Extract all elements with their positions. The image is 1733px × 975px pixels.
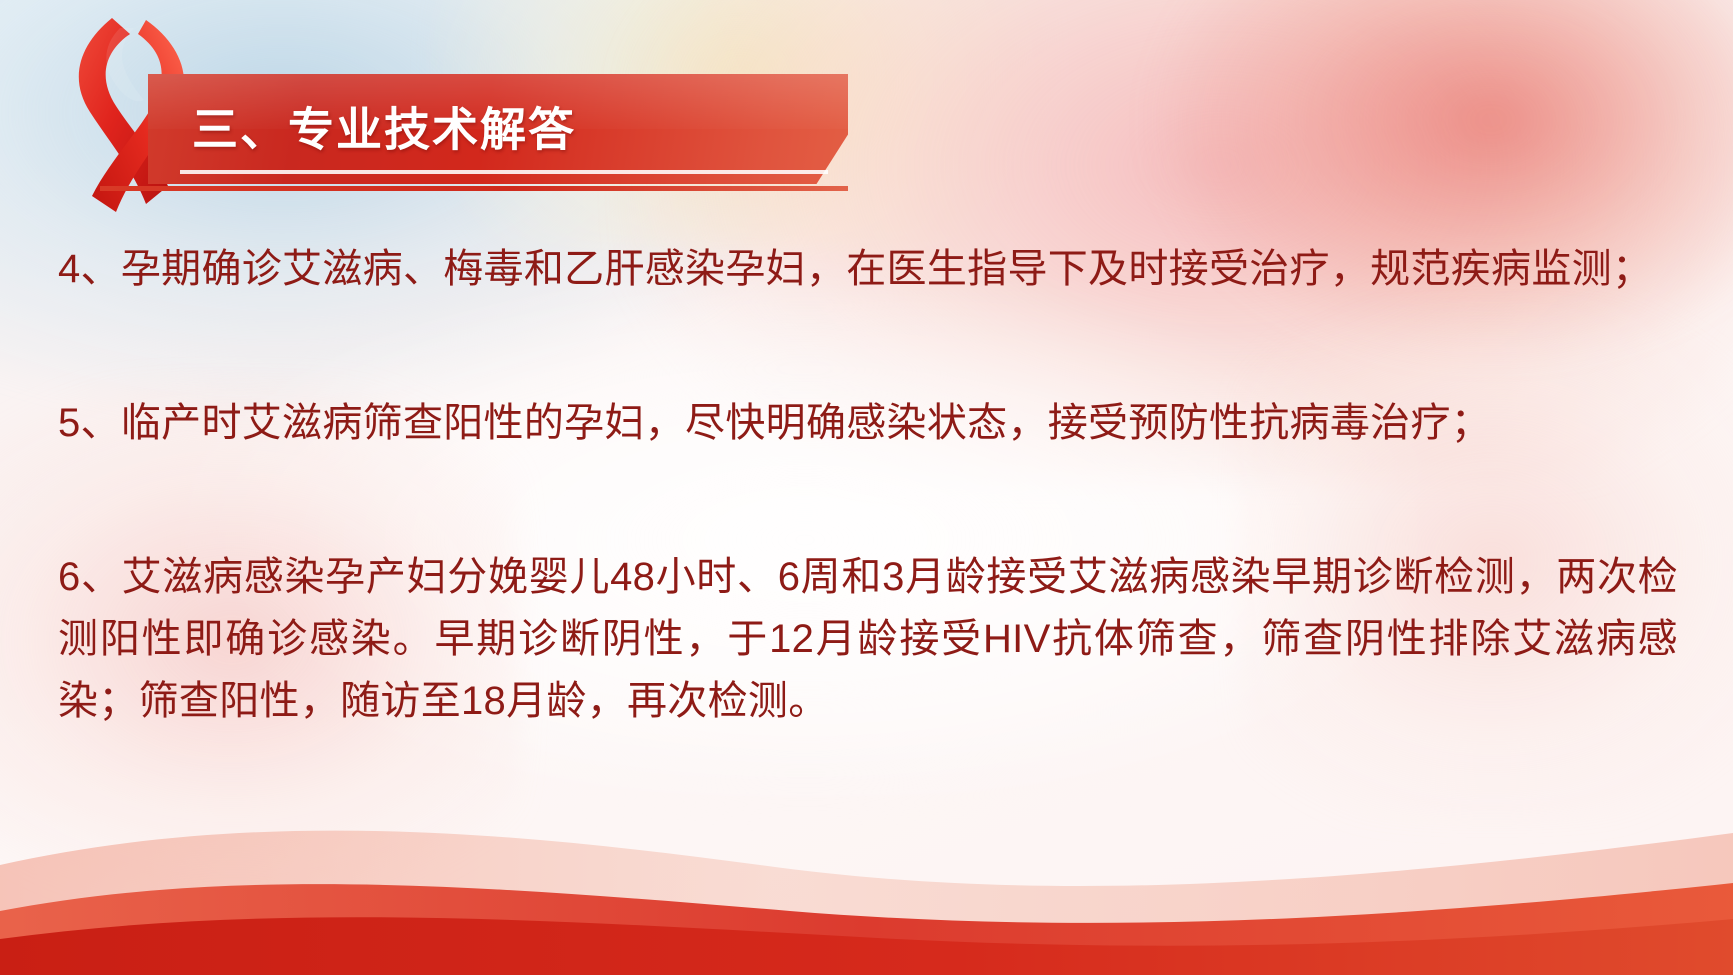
content-body: 4、孕期确诊艾滋病、梅毒和乙肝感染孕妇，在医生指导下及时接受治疗，规范疾病监测；… xyxy=(58,238,1678,732)
red-wave-decoration xyxy=(0,715,1733,975)
banner-inner-rule xyxy=(180,170,828,174)
slide-canvas: 三、专业技术解答 4、孕期确诊艾滋病、梅毒和乙肝感染孕妇，在医生指导下及时接受治… xyxy=(0,0,1733,975)
banner-underline xyxy=(100,186,848,191)
paragraph-item-6: 6、艾滋病感染孕产妇分娩婴儿48小时、6周和3月龄接受艾滋病感染早期诊断检测，两… xyxy=(58,546,1678,732)
paragraph-item-5: 5、临产时艾滋病筛查阳性的孕妇，尽快明确感染状态，接受预防性抗病毒治疗； xyxy=(58,392,1678,454)
paragraph-item-4: 4、孕期确诊艾滋病、梅毒和乙肝感染孕妇，在医生指导下及时接受治疗，规范疾病监测； xyxy=(58,238,1678,300)
section-title-banner: 三、专业技术解答 xyxy=(148,74,848,184)
page-title: 三、专业技术解答 xyxy=(192,93,576,159)
